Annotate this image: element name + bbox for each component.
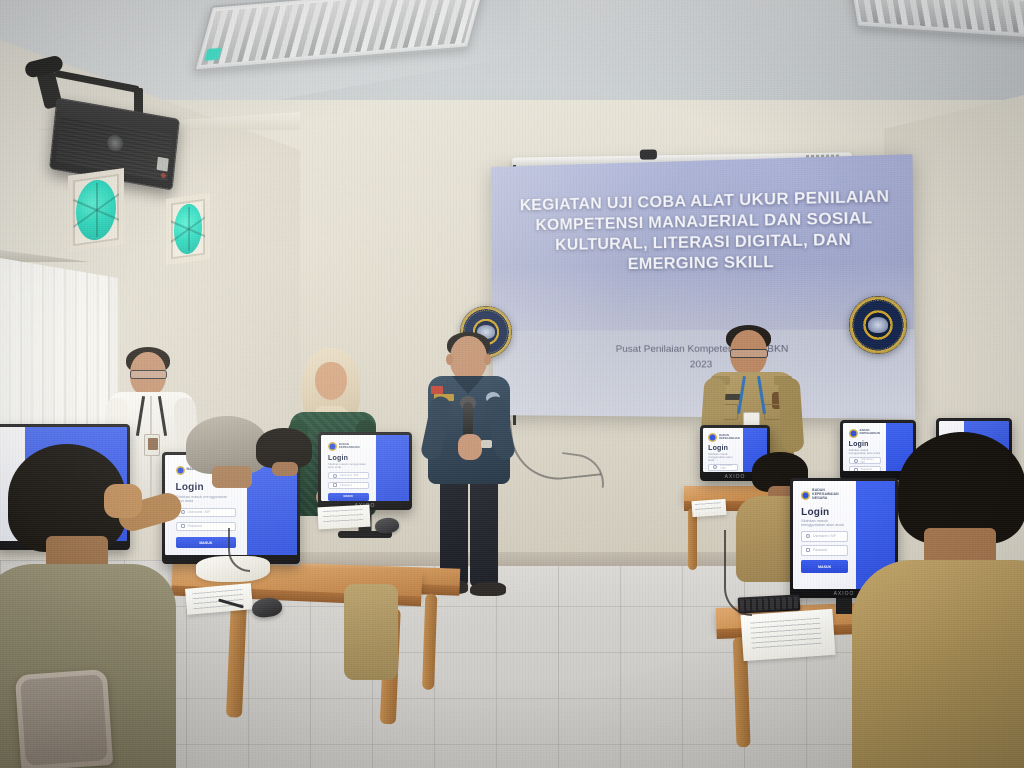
paper-lines: [323, 509, 363, 525]
seated-participant: [246, 428, 320, 540]
head: [450, 336, 487, 381]
fan-disc: [174, 202, 202, 256]
login-panel: BADAN KEPEGAWAIAN NEGARA Login Silahkan …: [793, 481, 856, 589]
monitor-screen[interactable]: BADAN KEPEGAWAIAN Login Silahkan masuk m…: [321, 435, 409, 501]
login-panel: BADAN KEPEGAWAIAN Login Silahkan masuk m…: [703, 428, 743, 472]
slide-subtitle-org: Pusat Penilaian Kompetensi ASN BKN: [520, 342, 892, 358]
username-placeholder: Username / NIP: [720, 464, 732, 470]
login-panel: BADAN KEPEGAWAIAN Login Silahkan masuk m…: [843, 423, 886, 471]
eyeglasses-icon: [730, 349, 768, 358]
lock-icon: [806, 548, 810, 552]
chair-cushion: [20, 674, 108, 766]
user-icon: [713, 465, 717, 469]
paper-sheet: [741, 609, 836, 661]
ear: [484, 354, 491, 365]
app-logo: BADAN KEPEGAWAIAN: [849, 429, 881, 438]
password-field[interactable]: Password: [801, 545, 848, 556]
password-field[interactable]: Password: [849, 466, 881, 471]
slide-subtitle-year: 2023: [521, 358, 893, 374]
uniform-shirt: [852, 560, 1024, 768]
projection-screen: KEGIATAN UJI COBA ALAT UKUR PENILAIAN KO…: [491, 154, 916, 419]
slide-title: KEGIATAN UJI COBA ALAT UKUR PENILAIAN KO…: [513, 187, 898, 278]
password-placeholder: Password: [861, 468, 872, 471]
logo-text: BADAN KEPEGAWAIAN NEGARA: [812, 489, 848, 501]
username-field[interactable]: Username / NIP: [849, 457, 881, 464]
emblem-ring: [853, 300, 903, 350]
user-icon: [806, 534, 810, 538]
logo-icon: [708, 433, 717, 442]
ear: [446, 354, 453, 365]
monitor-cable: [724, 530, 752, 616]
password-placeholder: Password: [340, 484, 351, 487]
shoe: [470, 582, 506, 596]
paper-sheet: [317, 505, 370, 530]
login-subtitle: Silahkan masuk menggunakan akun anda: [849, 449, 881, 455]
username-field[interactable]: Username / NIP: [708, 464, 737, 471]
login-subtitle: Silahkan masuk menggunakan akun anda: [801, 519, 848, 527]
screen-pull-knob[interactable]: [640, 149, 657, 159]
logo-text: BADAN KEPEGAWAIAN: [339, 444, 368, 450]
username-placeholder: Username / NIP: [340, 474, 358, 477]
exhaust-fan-icon: [166, 193, 210, 265]
training-room-photo: KEGIATAN UJI COBA ALAT UKUR PENILAIAN KO…: [0, 0, 1024, 768]
exhaust-fan-icon: [68, 168, 124, 252]
face: [315, 362, 347, 400]
hands: [458, 434, 482, 460]
logo-text-line1: BADAN KEPEGAWAIAN: [812, 488, 839, 496]
paper-lines: [695, 502, 721, 514]
login-subtitle: Silahkan masuk menggunakan akun anda: [708, 453, 737, 462]
password-placeholder: Password: [813, 548, 827, 552]
username-placeholder: Username / NIP: [861, 458, 876, 464]
user-icon: [333, 474, 337, 478]
institution-emblem-icon: [849, 296, 907, 354]
logo-icon: [801, 491, 810, 500]
login-submit-button[interactable]: MASUK: [328, 493, 368, 501]
monitor-brand-label: AXIOO: [834, 591, 855, 597]
password-field[interactable]: Password: [328, 482, 368, 489]
lock-icon: [854, 468, 858, 471]
logo-text: BADAN KEPEGAWAIAN: [719, 435, 740, 441]
login-heading: Login: [849, 441, 881, 448]
logo-icon: [849, 429, 858, 438]
presenter-with-microphone: [424, 336, 516, 598]
monitor: BADAN KEPEGAWAIAN Login Silahkan masuk m…: [318, 432, 412, 510]
flag-patch: [431, 386, 443, 394]
speaker-tag: [157, 157, 169, 172]
slide-subtitle: Pusat Penilaian Kompetensi ASN BKN 2023: [520, 342, 892, 373]
app-logo: BADAN KEPEGAWAIAN: [328, 442, 368, 451]
login-accent-panel: [376, 435, 409, 501]
logo-text: BADAN KEPEGAWAIAN: [860, 430, 881, 436]
seated-participant-legs: [344, 584, 398, 680]
login-heading: Login: [708, 445, 737, 452]
login-page: BADAN KEPEGAWAIAN Login Silahkan masuk m…: [321, 435, 409, 501]
neck: [272, 462, 298, 476]
logo-icon: [328, 442, 337, 451]
seated-participant: [886, 432, 1024, 768]
monitor-stand-neck: [836, 598, 852, 614]
user-icon: [854, 459, 858, 463]
login-panel: BADAN KEPEGAWAIAN Login Silahkan masuk m…: [321, 435, 376, 501]
paper-lines: [750, 618, 822, 651]
username-field[interactable]: Username / NIP: [801, 531, 848, 542]
login-heading: Login: [328, 455, 368, 462]
fan-disc: [76, 177, 116, 243]
wristwatch: [481, 440, 492, 448]
login-subtitle: Silahkan masuk menggunakan akun anda: [328, 463, 368, 469]
username-placeholder: Username / NIP: [813, 534, 836, 538]
logo-text-line2: NEGARA: [812, 496, 827, 500]
lock-icon: [333, 483, 337, 487]
username-field[interactable]: Username / NIP: [328, 472, 368, 479]
chair[interactable]: [15, 669, 113, 768]
eyeglasses-icon: [130, 370, 167, 379]
desk-leg: [688, 508, 697, 570]
login-submit-button[interactable]: MASUK: [801, 560, 848, 573]
leg: [470, 479, 498, 587]
app-logo: BADAN KEPEGAWAIAN: [708, 433, 737, 442]
hands: [104, 484, 142, 518]
app-logo: BADAN KEPEGAWAIAN NEGARA: [801, 489, 848, 501]
paper-sheet: [691, 499, 726, 517]
login-heading: Login: [801, 507, 848, 518]
